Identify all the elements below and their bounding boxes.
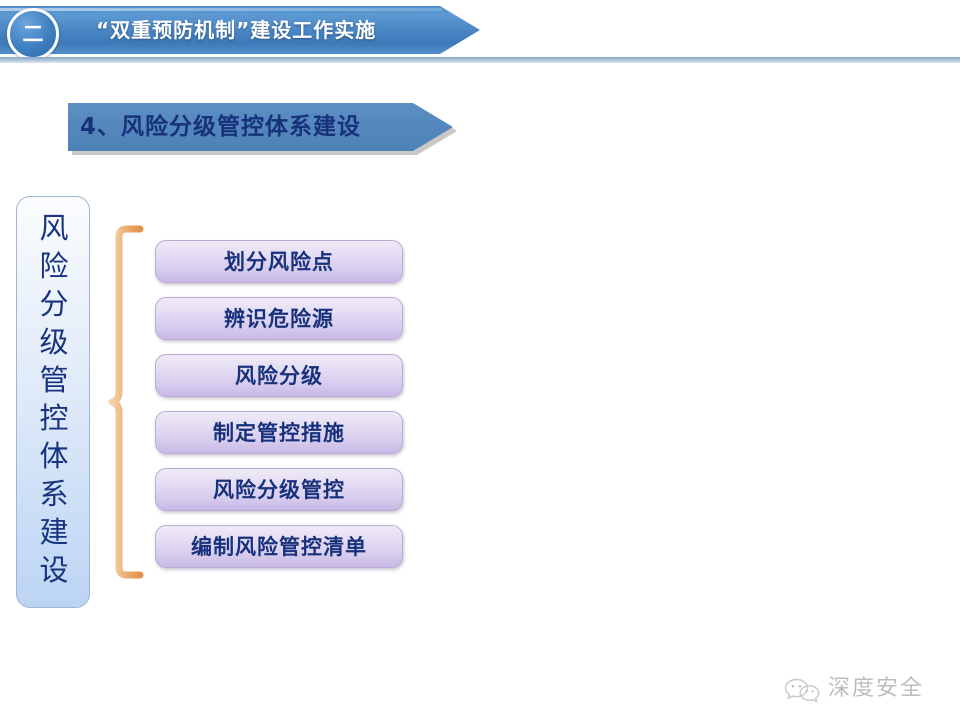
header-divider	[0, 57, 960, 63]
section-subtitle-text: 4、风险分级管控体系建设	[80, 103, 410, 151]
list-item-label: 风险分级	[156, 355, 402, 398]
watermark-text: 深度安全	[828, 672, 924, 706]
list-item[interactable]: 编制风险管控清单	[155, 525, 403, 568]
list-item[interactable]: 风险分级管控	[155, 468, 403, 511]
vertical-title-text: 风险分级管控体系建设	[17, 209, 90, 597]
list-item-label: 辨识危险源	[156, 298, 402, 341]
list-item-label: 编制风险管控清单	[156, 526, 402, 569]
brace-icon	[104, 224, 148, 580]
brace-connector	[104, 224, 148, 580]
page-title: “双重预防机制”建设工作实施	[96, 6, 426, 54]
list-item[interactable]: 辨识危险源	[155, 297, 403, 340]
section-number-badge: 二	[7, 8, 59, 60]
list-item[interactable]: 风险分级	[155, 354, 403, 397]
vertical-title-box: 风险分级管控体系建设	[16, 196, 90, 608]
list-item[interactable]: 制定管控措施	[155, 411, 403, 454]
list-item-label: 风险分级管控	[156, 469, 402, 512]
section-subtitle-banner: 4、风险分级管控体系建设	[68, 103, 453, 151]
header-banner: “双重预防机制”建设工作实施 二	[0, 6, 480, 54]
list-item[interactable]: 划分风险点	[155, 240, 403, 283]
wechat-logo-icon	[782, 674, 822, 706]
list-item-label: 划分风险点	[156, 241, 402, 284]
list-item-label: 制定管控措施	[156, 412, 402, 455]
watermark: 深度安全	[782, 672, 952, 712]
section-number-label: 二	[10, 11, 56, 57]
